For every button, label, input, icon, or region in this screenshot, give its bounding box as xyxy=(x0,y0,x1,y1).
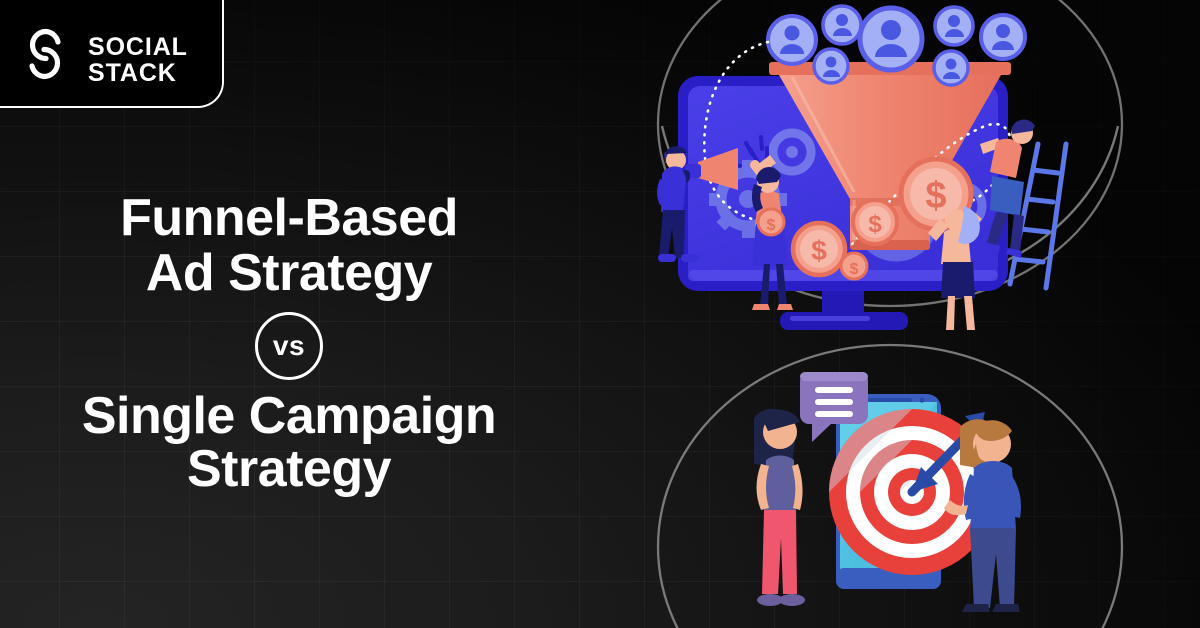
brand-logo-plate[interactable]: SOCIAL STACK xyxy=(0,0,224,108)
avatar-bubble xyxy=(768,16,816,64)
title-a-line-2: Ad Strategy xyxy=(0,247,578,300)
coin: $ xyxy=(841,253,867,279)
single-campaign-target-illustration xyxy=(640,332,1140,628)
avatar-bubble xyxy=(935,7,973,45)
coin: $ xyxy=(853,200,897,244)
poster-canvas: SOCIAL STACK Funnel-Based Ad Strategy vs… xyxy=(0,0,1200,628)
brand-name-line-1: SOCIAL xyxy=(88,34,188,60)
avatar-bubble xyxy=(823,6,861,44)
svg-text:$: $ xyxy=(925,175,946,217)
headline-block: Funnel-Based Ad Strategy vs Single Campa… xyxy=(0,192,578,496)
brand-name-line-2: STACK xyxy=(88,60,188,86)
menu-lines-icon xyxy=(815,387,853,417)
vs-label: vs xyxy=(273,330,305,362)
coin: $ xyxy=(758,209,784,235)
svg-text:$: $ xyxy=(811,235,827,266)
svg-text:$: $ xyxy=(868,211,882,238)
social-stack-interlocking-rings-icon xyxy=(16,22,74,86)
svg-text:$: $ xyxy=(767,217,776,234)
avatar-bubble xyxy=(981,15,1025,59)
avatar-bubble xyxy=(814,49,848,83)
woman-standing xyxy=(754,409,805,606)
vs-badge: vs xyxy=(255,312,323,380)
title-b-line-2: Strategy xyxy=(0,443,578,496)
title-a-line-1: Funnel-Based xyxy=(0,192,578,245)
avatar-bubble-large xyxy=(860,8,922,70)
funnel-lead-generation-illustration: $ $ $ $ $ xyxy=(640,0,1140,330)
brand-wordmark: SOCIAL STACK xyxy=(88,34,188,87)
avatar-bubble xyxy=(934,51,968,85)
title-b-line-1: Single Campaign xyxy=(0,390,578,443)
coin: $ xyxy=(793,223,845,275)
svg-text:$: $ xyxy=(850,261,859,278)
